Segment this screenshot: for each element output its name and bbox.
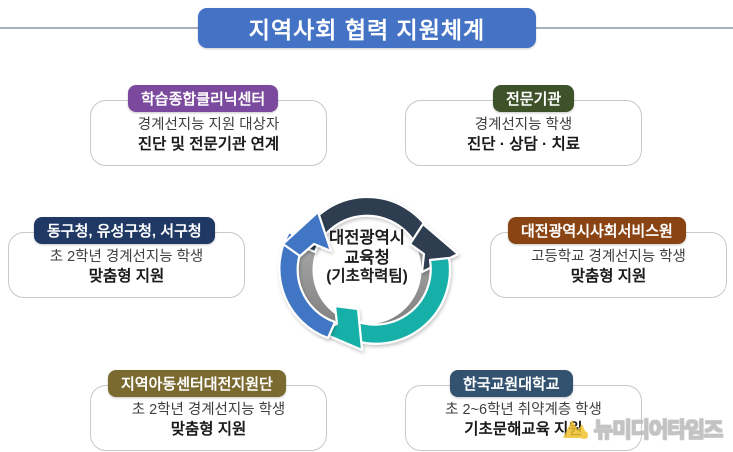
card-child-center-line2: 맞춤형 지원: [91, 420, 326, 441]
card-university-line2: 기초문해교육 지원: [406, 420, 641, 441]
badge-district-offices-label: 동구청, 유성구청, 서구청: [47, 220, 202, 241]
page-title: 지역사회 협력 지원체계: [249, 11, 485, 45]
card-child-center-line1: 초 2학년 경계선지능 학생: [91, 401, 326, 420]
cycle-graphic: [258, 172, 476, 368]
card-clinic-line1: 경계선지능 지원 대상자: [91, 116, 326, 135]
cycle-diagram: 대전광역시 교육청 (기초학력팀): [258, 172, 476, 368]
badge-university-label: 한국교원대학교: [463, 373, 560, 394]
title-rule-left: [0, 27, 200, 29]
badge-child-center: 지역아동센터대전지원단: [108, 370, 286, 397]
card-expert-body: 경계선지능 학생 진단 · 상담 · 치료: [406, 116, 641, 156]
card-child-center-body: 초 2학년 경계선지능 학생 맞춤형 지원: [91, 401, 326, 441]
card-expert-line1: 경계선지능 학생: [406, 116, 641, 135]
card-district-offices-body: 초 2학년 경계선지능 학생 맞춤형 지원: [9, 248, 244, 288]
card-district-offices-line2: 맞춤형 지원: [9, 267, 244, 288]
badge-social-service-label: 대전광역시사회서비스원: [521, 220, 673, 241]
badge-university: 한국교원대학교: [450, 370, 573, 397]
diagram-canvas: 지역사회 협력 지원체계 경계선지능 지원 대상자 진단 및 전문기관 연계 학…: [0, 0, 733, 452]
card-university-line1: 초 2~6학년 취약계층 학생: [406, 401, 641, 420]
badge-child-center-label: 지역아동센터대전지원단: [121, 373, 273, 394]
card-social-service-line2: 맞춤형 지원: [491, 267, 726, 288]
badge-social-service: 대전광역시사회서비스원: [508, 217, 686, 244]
cycle-arrow-teal: [320, 258, 450, 350]
card-university-body: 초 2~6학년 취약계층 학생 기초문해교육 지원: [406, 401, 641, 441]
card-clinic-line2: 진단 및 전문기관 연계: [91, 135, 326, 156]
badge-district-offices: 동구청, 유성구청, 서구청: [34, 217, 215, 244]
title-rule-right: [533, 27, 733, 29]
badge-expert-label: 전문기관: [506, 88, 561, 109]
card-clinic-body: 경계선지능 지원 대상자 진단 및 전문기관 연계: [91, 116, 326, 156]
badge-clinic-label: 학습종합클리닉센터: [141, 88, 265, 109]
badge-clinic: 학습종합클리닉센터: [128, 85, 278, 112]
card-social-service-body: 고등학교 경계선지능 학생 맞춤형 지원: [491, 248, 726, 288]
card-social-service-line1: 고등학교 경계선지능 학생: [491, 248, 726, 267]
diagram-title-box: 지역사회 협력 지원체계: [198, 8, 536, 48]
card-district-offices-line1: 초 2학년 경계선지능 학생: [9, 248, 244, 267]
card-expert-line2: 진단 · 상담 · 치료: [406, 135, 641, 156]
badge-expert: 전문기관: [493, 85, 574, 112]
